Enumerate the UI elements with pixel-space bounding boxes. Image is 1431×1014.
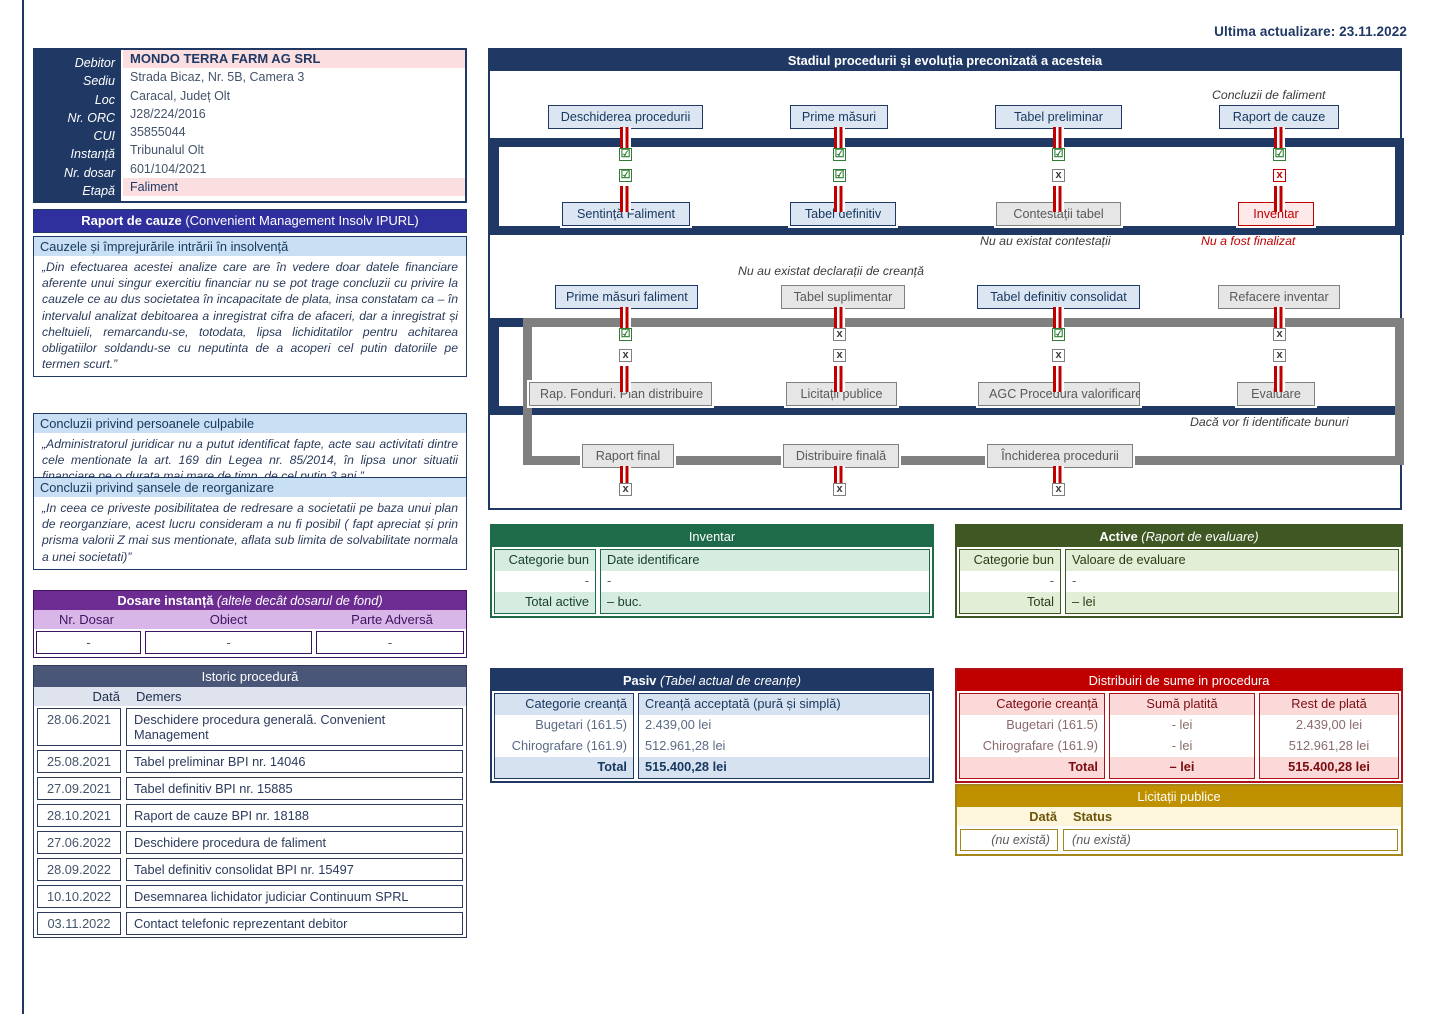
istoric-col-data: Dată — [34, 687, 128, 706]
raport-cauze-header: Raport de cauze (Convenient Management I… — [33, 209, 467, 233]
distribuiri-col-header-suma: Sumă platită — [1110, 694, 1254, 715]
identity-label-nr-dosar: Nr. dosar — [35, 164, 115, 182]
report-section-culpabile-title: Concluzii privind persoanele culpabile — [34, 414, 466, 433]
flow-node-tabel-suplimentar[interactable]: Tabel suplimentar — [781, 285, 905, 309]
note-inventar-nefinalizat: Nu a fost finalizat — [1201, 234, 1295, 248]
active-col-valoare: Valoare de evaluare - – lei — [1065, 549, 1399, 614]
report-section-reorganizare: Concluzii privind șansele de reorganizar… — [33, 477, 467, 570]
active-col-categorie: Categorie bun - Total — [959, 549, 1061, 614]
flow-mark-ok: ☑ — [1052, 328, 1065, 341]
flow-node-raport-de-cauze[interactable]: Raport de cauze — [1219, 105, 1339, 129]
distribuiri-col-header-categorie: Categorie creanță — [960, 694, 1104, 715]
dosare-header-rest: (altele decât dosarul de fond) — [213, 593, 382, 608]
istoric-title: Istoric procedură — [34, 666, 466, 687]
istoric-cell-demers: Deschidere procedura generală. Convenien… — [126, 708, 463, 746]
note-concluzii-faliment: Concluzii de faliment — [1212, 88, 1325, 102]
pasiv-cell-categorie: Chirografare (161.9) — [495, 736, 633, 757]
flow-connector — [834, 366, 845, 392]
istoric-cell-date: 27.06.2022 — [37, 831, 121, 854]
active-title-rest: (Raport de evaluare) — [1138, 529, 1259, 544]
distribuiri-cell-suma: - lei — [1110, 715, 1254, 736]
identity-value-nr-dosar: 601/104/2021 — [123, 160, 465, 178]
flow-connector — [620, 186, 631, 212]
istoric-cell-date: 03.11.2022 — [37, 912, 121, 935]
inventar-col-categorie: Categorie bun - Total active — [494, 549, 596, 614]
distribuiri-col-categorie: Categorie creanță Bugetari (161.5) Chiro… — [959, 693, 1105, 779]
flow-mark-no: x — [1273, 328, 1286, 341]
flow-mark-ok: ☑ — [619, 328, 632, 341]
report-page: Ultima actualizare: 23.11.2022 Debitor S… — [0, 0, 1431, 1014]
flow-node-raport-final[interactable]: Raport final — [582, 444, 674, 468]
flow-connector — [620, 366, 631, 392]
inventar-cell-total-label: Total active — [495, 592, 595, 613]
active-cell-total-label: Total — [960, 592, 1060, 613]
identity-label-nr-orc: Nr. ORC — [35, 109, 115, 127]
flow-mark-ok: ☑ — [833, 169, 846, 182]
flow-mark-ok: ☑ — [619, 169, 632, 182]
distribuiri-grid: Categorie creanță Bugetari (161.5) Chiro… — [957, 691, 1401, 781]
active-title: Active (Raport de evaluare) — [957, 526, 1401, 547]
pasiv-cell-creanta: 2.439,00 lei — [639, 715, 929, 736]
note-declaratii-creanta: Nu au existat declarații de creanță — [738, 264, 924, 278]
flowchart-title: Stadiul procedurii și evoluția preconiza… — [490, 50, 1400, 71]
inventar-col-date: Date identificare - – buc. — [600, 549, 930, 614]
inventar-cell-date: - — [601, 571, 929, 592]
licitatii-col-status: Status — [1065, 807, 1401, 826]
dosare-col-obiect: Obiect — [139, 610, 318, 629]
flow-connector — [1053, 466, 1064, 484]
flow-mark-no: x — [1052, 169, 1065, 182]
dosare-header-bold: Dosare instanță — [117, 593, 213, 608]
active-panel: Active (Raport de evaluare) Categorie bu… — [955, 524, 1403, 618]
pasiv-grid: Categorie creanță Bugetari (161.5) Chiro… — [492, 691, 932, 781]
pasiv-panel: Pasiv (Tabel actual de creanțe) Categori… — [490, 668, 934, 783]
identity-value-cui: 35855044 — [123, 123, 465, 141]
istoric-cell-demers: Deschidere procedura de faliment — [126, 831, 463, 854]
istoric-procedura-table: Istoric procedură Dată Demers 28.06.2021… — [33, 665, 467, 938]
raport-cauze-header-bold: Raport de cauze — [81, 213, 181, 228]
istoric-cell-demers: Tabel definitiv consolidat BPI nr. 15497 — [126, 858, 463, 881]
flow-connector — [1053, 366, 1064, 392]
report-section-reorganizare-body: „In ceea ce priveste posibilitatea de re… — [34, 497, 466, 569]
flow-mark-no: x — [833, 349, 846, 362]
distribuiri-panel: Distribuiri de sume in procedura Categor… — [955, 668, 1403, 783]
table-row: 03.11.2022 Contact telefonic reprezentan… — [34, 910, 466, 937]
flow-mark-no: x — [1052, 349, 1065, 362]
pasiv-title: Pasiv (Tabel actual de creanțe) — [492, 670, 932, 691]
distribuiri-cell-rest: 2.439,00 lei — [1260, 715, 1398, 736]
licitatii-title: Licitații publice — [957, 786, 1401, 807]
table-row: 28.06.2021 Deschidere procedura generală… — [34, 706, 466, 748]
istoric-cell-demers: Tabel preliminar BPI nr. 14046 — [126, 750, 463, 773]
distribuiri-cell-total-label: Total — [960, 757, 1104, 778]
inventar-panel: Inventar Categorie bun - Total active Da… — [490, 524, 934, 618]
table-row: 27.06.2022 Deschidere procedura de falim… — [34, 829, 466, 856]
flow-node-prime-masuri-faliment[interactable]: Prime măsuri faliment — [555, 285, 698, 309]
licitatii-cell-data: (nu există) — [960, 829, 1058, 851]
distribuiri-cell-categorie: Bugetari (161.5) — [960, 715, 1104, 736]
identity-label-sediu: Sediu — [35, 72, 115, 90]
licitatii-col-data: Dată — [957, 807, 1065, 826]
pasiv-col-header-creanta: Creanță acceptată (pură și simplă) — [639, 694, 929, 715]
flow-node-refacere-inventar[interactable]: Refacere inventar — [1218, 285, 1340, 309]
pasiv-cell-creanta: 512.961,28 lei — [639, 736, 929, 757]
last-update-label: Ultima actualizare: 23.11.2022 — [1214, 24, 1407, 39]
table-row: 27.09.2021 Tabel definitiv BPI nr. 15885 — [34, 775, 466, 802]
pasiv-col-creanta: Creanță acceptată (pură și simplă) 2.439… — [638, 693, 930, 779]
identity-value-etapa: Faliment — [123, 178, 465, 196]
inventar-col-header-date: Date identificare — [601, 550, 929, 571]
table-row: 25.08.2021 Tabel preliminar BPI nr. 1404… — [34, 748, 466, 775]
istoric-cell-demers: Contact telefonic reprezentant debitor — [126, 912, 463, 935]
dosare-column-headers: Nr. Dosar Obiect Parte Adversă — [34, 610, 466, 629]
table-row: 28.09.2022 Tabel definitiv consolidat BP… — [34, 856, 466, 883]
identity-labels: Debitor Sediu Loc Nr. ORC CUI Instanță N… — [35, 50, 123, 201]
active-title-bold: Active — [1099, 529, 1137, 544]
istoric-cell-demers: Desemnarea lichidator judiciar Continuum… — [126, 885, 463, 908]
table-row: 28.10.2021 Raport de cauze BPI nr. 18188 — [34, 802, 466, 829]
flow-mark-ok: ☑ — [619, 148, 632, 161]
flow-node-tabel-preliminar[interactable]: Tabel preliminar — [995, 105, 1122, 129]
table-row: (nu există) (nu există) — [957, 826, 1401, 854]
report-section-reorganizare-title: Concluzii privind șansele de reorganizar… — [34, 478, 466, 497]
identity-label-debitor: Debitor — [35, 54, 115, 72]
active-cell-total-value: – lei — [1066, 592, 1398, 613]
dosare-instanta-header: Dosare instanță (altele decât dosarul de… — [34, 591, 466, 610]
flow-mark-ok: ☑ — [1052, 148, 1065, 161]
pasiv-cell-categorie: Bugetari (161.5) — [495, 715, 633, 736]
licitatii-cell-status: (nu există) — [1063, 829, 1398, 851]
istoric-cell-date: 28.06.2021 — [37, 708, 121, 746]
active-col-header-categorie: Categorie bun — [960, 550, 1060, 571]
flow-mark-no: x — [833, 328, 846, 341]
flow-node-inchiderea-procedurii[interactable]: Închiderea procedurii — [987, 444, 1133, 468]
identity-value-debitor: MONDO TERRA FARM AG SRL — [123, 50, 465, 68]
istoric-cell-date: 28.09.2022 — [37, 858, 121, 881]
distribuiri-title: Distribuiri de sume in procedura — [957, 670, 1401, 691]
identity-label-cui: CUI — [35, 127, 115, 145]
flow-connector — [1053, 186, 1064, 212]
report-section-cauze-title: Cauzele și împrejurările intrării în ins… — [34, 237, 466, 256]
active-cell-categorie: - — [960, 571, 1060, 592]
dosare-cell-parte-adversa: - — [316, 631, 464, 654]
dosare-instanta-table: Dosare instanță (altele decât dosarul de… — [33, 590, 467, 658]
flow-mark-ok: ☑ — [1273, 148, 1286, 161]
distribuiri-cell-rest: 512.961,28 lei — [1260, 736, 1398, 757]
flow-connector — [620, 466, 631, 484]
note-bunuri: Dacă vor fi identificate bunuri — [1190, 415, 1349, 429]
flow-mark-no: x — [1273, 169, 1286, 182]
distribuiri-col-header-rest: Rest de plată — [1260, 694, 1398, 715]
pasiv-col-categorie: Categorie creanță Bugetari (161.5) Chiro… — [494, 693, 634, 779]
inventar-title: Inventar — [492, 526, 932, 547]
pasiv-cell-total-label: Total — [495, 757, 633, 778]
pasiv-col-header-categorie: Categorie creanță — [495, 694, 633, 715]
flow-connector — [1274, 186, 1285, 212]
distribuiri-cell-total-rest: 515.400,28 lei — [1260, 757, 1398, 778]
dosare-col-parte-adversa: Parte Adversă — [318, 610, 466, 629]
istoric-cell-demers: Raport de cauze BPI nr. 18188 — [126, 804, 463, 827]
identity-value-loc: Caracal, Județ Olt — [123, 87, 465, 105]
active-grid: Categorie bun - Total Valoare de evaluar… — [957, 547, 1401, 616]
flow-connector — [1274, 366, 1285, 392]
distribuiri-col-suma: Sumă platită - lei - lei – lei — [1109, 693, 1255, 779]
identity-values: MONDO TERRA FARM AG SRL Strada Bicaz, Nr… — [123, 50, 465, 201]
dosare-cell-nr-dosar: - — [36, 631, 141, 654]
flow-node-deschiderea-procedurii[interactable]: Deschiderea procedurii — [548, 105, 703, 129]
identity-label-instanta: Instanță — [35, 145, 115, 163]
pasiv-cell-total-value: 515.400,28 lei — [639, 757, 929, 778]
licitatii-column-headers: Dată Status — [957, 807, 1401, 826]
flow-node-distribuire-finala[interactable]: Distribuire finală — [783, 444, 899, 468]
debtor-identity-card: Debitor Sediu Loc Nr. ORC CUI Instanță N… — [33, 48, 467, 203]
report-section-cauze: Cauzele și împrejurările intrării în ins… — [33, 236, 467, 377]
licitatii-publice-panel: Licitații publice Dată Status (nu există… — [955, 784, 1403, 856]
active-cell-valoare: - — [1066, 571, 1398, 592]
flow-mark-no: x — [619, 349, 632, 362]
distribuiri-cell-total-suma: – lei — [1110, 757, 1254, 778]
distribuiri-cell-categorie: Chirografare (161.9) — [960, 736, 1104, 757]
istoric-col-demers: Demers — [128, 687, 466, 706]
istoric-cell-date: 25.08.2021 — [37, 750, 121, 773]
active-col-header-valoare: Valoare de evaluare — [1066, 550, 1398, 571]
dosare-cell-obiect: - — [145, 631, 312, 654]
flow-connector — [834, 466, 845, 484]
inventar-grid: Categorie bun - Total active Date identi… — [492, 547, 932, 616]
raport-cauze-header-rest: (Convenient Management Insolv IPURL) — [182, 213, 419, 228]
table-row: - - - — [34, 629, 466, 657]
identity-value-sediu: Strada Bicaz, Nr. 5B, Camera 3 — [123, 68, 465, 86]
istoric-cell-demers: Tabel definitiv BPI nr. 15885 — [126, 777, 463, 800]
report-section-cauze-body: „Din efectuarea acestei analize care are… — [34, 256, 466, 376]
inventar-cell-total-value: – buc. — [601, 592, 929, 613]
left-page-rule — [22, 0, 24, 1014]
identity-value-instanta: Tribunalul Olt — [123, 141, 465, 159]
pasiv-title-rest: (Tabel actual de creanțe) — [656, 673, 801, 688]
flow-mark-no: x — [833, 483, 846, 496]
flow-mark-no: x — [1273, 349, 1286, 362]
identity-label-loc: Loc — [35, 91, 115, 109]
table-row: 10.10.2022 Desemnarea lichidator judicia… — [34, 883, 466, 910]
flow-mark-no: x — [619, 483, 632, 496]
distribuiri-cell-suma: - lei — [1110, 736, 1254, 757]
distribuiri-col-rest: Rest de plată 2.439,00 lei 512.961,28 le… — [1259, 693, 1399, 779]
inventar-cell-categorie: - — [495, 571, 595, 592]
flow-node-tabel-definitiv-consolidat[interactable]: Tabel definitiv consolidat — [977, 285, 1140, 309]
identity-value-nr-orc: J28/224/2016 — [123, 105, 465, 123]
note-contestatii: Nu au existat contestații — [980, 234, 1111, 248]
istoric-cell-date: 28.10.2021 — [37, 804, 121, 827]
istoric-column-headers: Dată Demers — [34, 687, 466, 706]
istoric-cell-date: 27.09.2021 — [37, 777, 121, 800]
istoric-cell-date: 10.10.2022 — [37, 885, 121, 908]
inventar-col-header-categorie: Categorie bun — [495, 550, 595, 571]
dosare-col-nr-dosar: Nr. Dosar — [34, 610, 139, 629]
flow-mark-ok: ☑ — [833, 148, 846, 161]
procedure-flowchart: Stadiul procedurii și evoluția preconiza… — [488, 48, 1402, 510]
flow-connector — [834, 186, 845, 212]
flow-node-prime-masuri[interactable]: Prime măsuri — [790, 105, 888, 129]
flow-mark-no: x — [1052, 483, 1065, 496]
identity-label-etapa: Etapă — [35, 182, 115, 200]
pasiv-title-bold: Pasiv — [623, 673, 656, 688]
